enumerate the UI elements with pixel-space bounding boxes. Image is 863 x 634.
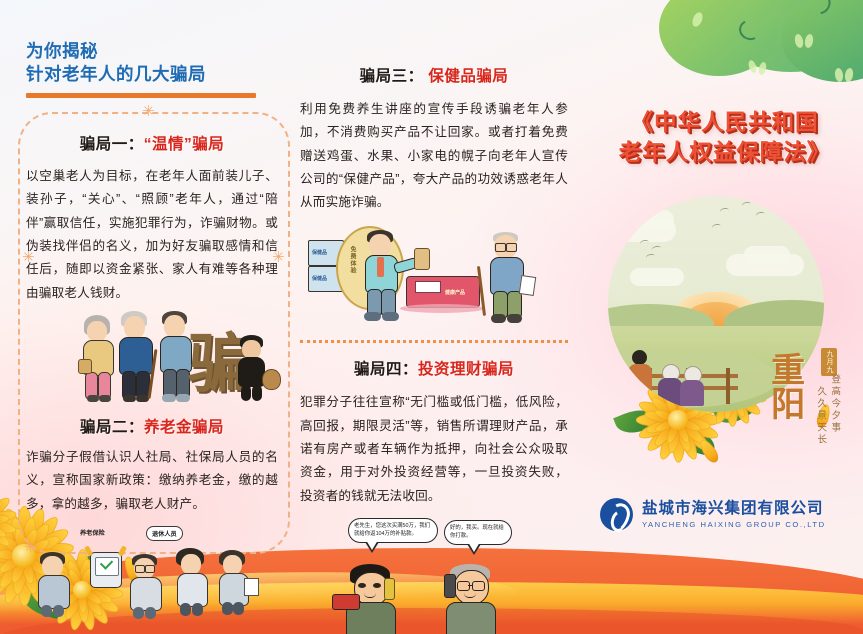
flower-petal: [0, 486, 2, 518]
law-title: 《中华人民共和国 老年人权益保障法》: [586, 108, 863, 168]
flower-petal: [0, 518, 18, 536]
middle-column: 骗局三： 保健品骗局 利用免费养生讲座的宣传手段诱骗老年人参加，不消费购买产品不…: [300, 64, 568, 632]
poster-canvas: ✳ ✳ ✳ ✳ 为你揭秘 针对老年人的几大骗局 骗局一：“温情”骗局 以空巢老人…: [0, 0, 863, 634]
calligraphy-chongyang: 重阳: [767, 352, 802, 420]
flower-petal: [0, 520, 8, 541]
law-title-line1: 《中华人民共和国: [586, 108, 863, 138]
flower-petal: [0, 494, 13, 522]
right-column: 《中华人民共和国 老年人权益保障法》: [586, 0, 863, 634]
company-name-cn: 盐城市海兴集团有限公司: [642, 500, 826, 517]
label-health-product-1: 保健品: [312, 249, 327, 256]
panel-four-body: 犯罪分子往往宣称“无门槛或低门槛，低风险，高回报，期限灵活”等，销售所谓理财产品…: [300, 391, 568, 507]
illustration-scam-four: 老先生，您这次买满50万，我们就给你返104万的补贴款。 好的，我买。现在就给你…: [300, 522, 568, 632]
panel-three-title: 骗局三： 保健品骗局: [300, 64, 568, 86]
panel-two-highlight: 养老金骗局: [144, 419, 224, 436]
panel-one-title: 骗局一：“温情”骗局: [26, 132, 278, 154]
panel-four-highlight: 投资理财骗局: [418, 361, 514, 378]
speech-bubble-scammer: 老先生，您这次买满50万，我们就给你返104万的补贴款。: [348, 518, 438, 543]
speech-bubble-scammer-text: 老先生，您这次买满50万，我们就给你返104万的补贴款。: [354, 523, 430, 537]
phone-device-icon: [90, 552, 122, 588]
flower-petal: [0, 508, 18, 526]
speech-bubble-victim-text: 好的，我买。现在就给你打款。: [450, 525, 504, 539]
section-divider: [300, 340, 568, 343]
label-retiree: 退休人员: [146, 526, 183, 541]
flower-petal: [0, 498, 5, 522]
panel-three: 骗局三： 保健品骗局 利用免费养生讲座的宣传手段诱骗老年人参加，不消费购买产品不…: [300, 64, 568, 214]
flower-petal: [0, 515, 2, 526]
panel-three-prefix: 骗局三：: [360, 68, 424, 85]
panel-two-title: 骗局二：养老金骗局: [26, 415, 278, 437]
label-free-experience: 免费体验: [348, 246, 357, 274]
title-underline: [26, 93, 256, 98]
left-column: 为你揭秘 针对老年人的几大骗局 骗局一：“温情”骗局 以空巢老人为目标，在老年人…: [26, 40, 278, 616]
label-health-product-2: 保健品: [312, 275, 327, 282]
illustration-scam-one: 骗: [26, 311, 278, 403]
haixing-logo-icon: [600, 498, 633, 531]
illustration-scam-three: 保健品 保健品 免费体验: [300, 222, 568, 330]
panel-two-prefix: 骗局二：: [80, 419, 144, 436]
illustration-scam-two: 养老保险 退休人员: [26, 526, 278, 616]
calligraphy-verse-2: 久久景天长: [813, 386, 827, 446]
page-title: 为你揭秘 针对老年人的几大骗局: [26, 40, 278, 98]
calligraphy-block: 重阳 九月九 登高今夕事 久久景天长: [767, 352, 861, 472]
panel-three-body: 利用免费养生讲座的宣传手段诱骗老年人参加，不消费购买产品不让回家。或者打着免费赠…: [300, 98, 568, 214]
panel-one-highlight: “温情”骗局: [144, 136, 225, 153]
label-health-goods: 健康产品: [445, 289, 465, 296]
law-title-line2: 老年人权益保障法》: [586, 138, 863, 168]
panel-two: 骗局二：养老金骗局 诈骗分子假借认识人社局、社保局人员的名义，宣称国家新政策：缴…: [26, 415, 278, 516]
page-title-line2: 针对老年人的几大骗局: [26, 63, 278, 86]
panel-four: 骗局四：投资理财骗局 犯罪分子往往宣称“无门槛或低门槛，低风险，高回报，期限灵活…: [300, 357, 568, 507]
panel-one-body: 以空巢老人为目标，在老年人面前装儿子、装孙子，“关心”、“照顾”老年人，通过“陪…: [26, 165, 278, 305]
calligraphy-verse-1: 登高今夕事: [827, 374, 841, 434]
panel-four-title: 骗局四：投资理财骗局: [300, 357, 568, 379]
company-name-en: YANCHENG HAIXING GROUP CO.,LTD: [642, 520, 826, 529]
panel-two-body: 诈骗分子假借认识人社局、社保局人员的名义，宣称国家新政策：缴纳养老金，缴的越多，…: [26, 446, 278, 516]
panel-four-prefix: 骗局四：: [354, 361, 418, 378]
calligraphy-seal: 九月九: [821, 348, 837, 376]
company-logo[interactable]: 盐城市海兴集团有限公司 YANCHENG HAIXING GROUP CO.,L…: [600, 498, 850, 531]
flower-petal: [0, 513, 10, 526]
speech-bubble-victim: 好的，我买。现在就给你打款。: [444, 520, 512, 545]
panel-one-prefix: 骗局一：: [80, 136, 144, 153]
panel-one: 骗局一：“温情”骗局 以空巢老人为目标，在老年人面前装儿子、装孙子，“关心”、“…: [26, 132, 278, 305]
panel-three-highlight: 保健品骗局: [428, 68, 508, 85]
label-pension-insurance: 养老保险: [80, 528, 105, 537]
page-title-line1: 为你揭秘: [26, 40, 278, 63]
